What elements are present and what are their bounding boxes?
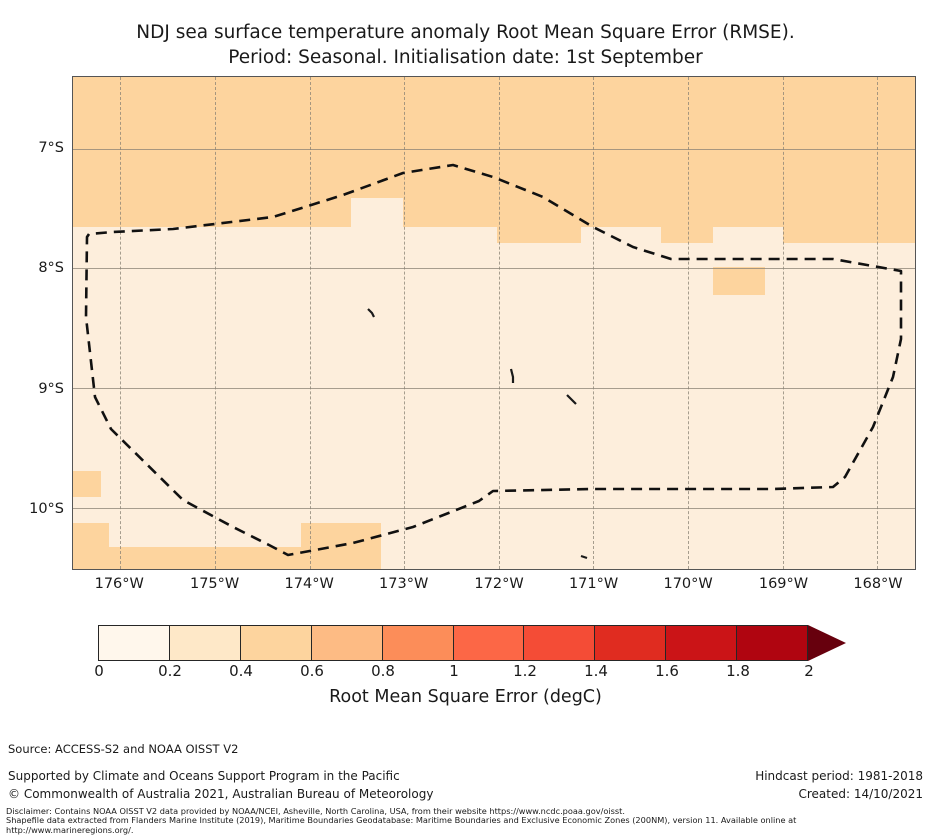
colorbar-tick-label: 1.6 xyxy=(637,662,697,680)
x-tick-label: 170°W xyxy=(643,576,733,592)
x-tick-label: 171°W xyxy=(549,576,639,592)
colorbar-tick-label: 0.8 xyxy=(353,662,413,680)
title-line-2: Period: Seasonal. Initialisation date: 1… xyxy=(0,45,931,70)
colorbar-band xyxy=(454,626,525,660)
footer: Source: ACCESS-S2 and NOAA OISST V2 Supp… xyxy=(0,735,931,839)
colorbar-extend-arrow-icon xyxy=(808,625,846,661)
colorbar-legend: 0 0.2 0.4 0.6 0.8 1 1.2 1.4 1.6 1.8 2 Ro… xyxy=(0,625,931,720)
page-title: NDJ sea surface temperature anomaly Root… xyxy=(0,20,931,70)
colorbar-tick-label: 1 xyxy=(424,662,484,680)
copyright-text: © Commonwealth of Australia 2021, Austra… xyxy=(8,787,433,801)
colorbar-tick-label: 1.4 xyxy=(566,662,626,680)
colorbar-band xyxy=(666,626,737,660)
colorbar-band xyxy=(99,626,170,660)
colorbar-tick-label: 1.8 xyxy=(708,662,768,680)
colorbar-band xyxy=(383,626,454,660)
y-tick-label: 8°S xyxy=(4,260,64,276)
eez-boundary-overlay xyxy=(73,77,916,570)
colorbar-tick-label: 0 xyxy=(69,662,129,680)
colorbar-tick-label: 0.4 xyxy=(211,662,271,680)
y-axis-labels: 7°S 8°S 9°S 10°S xyxy=(0,76,64,570)
colorbar-band xyxy=(595,626,666,660)
disclaimer-line-3: http://www.marineregions.org/. xyxy=(6,825,133,835)
x-tick-label: 174°W xyxy=(264,576,354,592)
hindcast-period-text: Hindcast period: 1981-2018 xyxy=(755,769,923,783)
x-tick-label: 168°W xyxy=(833,576,923,592)
x-axis-labels: 176°W 175°W 174°W 173°W 172°W 171°W 170°… xyxy=(72,576,916,598)
y-tick-label: 7°S xyxy=(4,140,64,156)
colorbar-tick-label: 0.6 xyxy=(282,662,342,680)
colorbar-bands xyxy=(98,625,808,661)
support-text: Supported by Climate and Oceans Support … xyxy=(8,769,400,783)
colorbar-axis-label: Root Mean Square Error (degC) xyxy=(0,687,931,707)
created-date-text: Created: 14/10/2021 xyxy=(798,787,923,801)
x-tick-label: 169°W xyxy=(738,576,828,592)
x-tick-label: 172°W xyxy=(454,576,544,592)
x-tick-label: 173°W xyxy=(359,576,449,592)
x-tick-label: 176°W xyxy=(74,576,164,592)
colorbar-band xyxy=(737,626,807,660)
colorbar-tick-label: 0.2 xyxy=(140,662,200,680)
colorbar-band xyxy=(241,626,312,660)
colorbar-tick-label: 1.2 xyxy=(495,662,555,680)
map-plot-area[interactable] xyxy=(72,76,916,570)
colorbar-band xyxy=(524,626,595,660)
source-text: Source: ACCESS-S2 and NOAA OISST V2 xyxy=(8,742,238,756)
title-line-1: NDJ sea surface temperature anomaly Root… xyxy=(0,20,931,45)
colorbar-band xyxy=(170,626,241,660)
y-tick-label: 10°S xyxy=(4,501,64,517)
y-tick-label: 9°S xyxy=(4,381,64,397)
colorbar-band xyxy=(312,626,383,660)
x-tick-label: 175°W xyxy=(170,576,260,592)
disclaimer-line-2: Shapefile data extracted from Flanders M… xyxy=(6,815,796,825)
colorbar-tick-label: 2 xyxy=(779,662,839,680)
